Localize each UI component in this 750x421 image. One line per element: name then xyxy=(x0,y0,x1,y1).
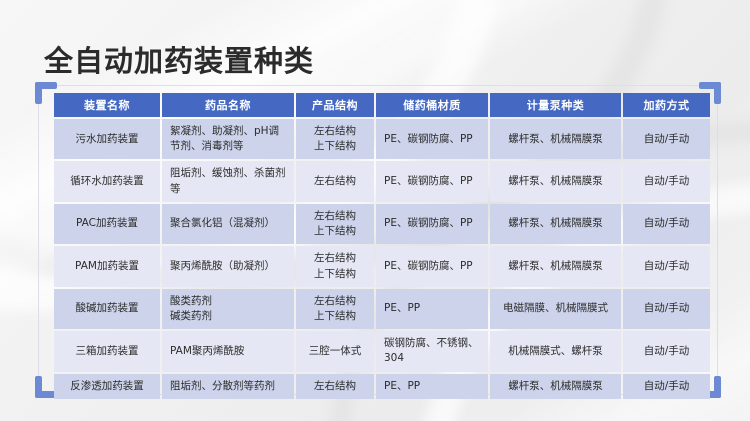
tank-material-cell: PE、碳钢防腐、PP xyxy=(376,119,488,159)
dosing-mode-cell: 自动/手动 xyxy=(623,161,710,201)
dosing-mode-cell: 自动/手动 xyxy=(623,374,710,399)
device-name-cell: PAC加药装置 xyxy=(54,204,160,244)
pump-type-cell: 螺杆泵、机械隔膜泵 xyxy=(490,246,621,286)
product-structure-cell: 左右结构上下结构 xyxy=(296,246,374,286)
table-row: 三箱加药装置PAM聚丙烯酰胺三腔一体式碳钢防腐、不锈钢、304机械隔膜式、螺杆泵… xyxy=(54,331,710,371)
tank-material-cell: 碳钢防腐、不锈钢、304 xyxy=(376,331,488,371)
column-header-product-structure: 产品结构 xyxy=(296,93,374,117)
tank-material-cell: PE、PP xyxy=(376,289,488,329)
chemical-name-cell: 酸类药剂碱类药剂 xyxy=(162,289,294,329)
chemical-name-cell: 阻垢剂、缓蚀剂、杀菌剂等 xyxy=(162,161,294,201)
page-title: 全自动加药装置种类 xyxy=(44,38,314,80)
device-name-cell: PAM加药装置 xyxy=(54,246,160,286)
column-header-tank-material: 储药桶材质 xyxy=(376,93,488,117)
device-name-cell: 酸碱加药装置 xyxy=(54,289,160,329)
tank-material-cell: PE、碳钢防腐、PP xyxy=(376,161,488,201)
chemical-name-cell: PAM聚丙烯酰胺 xyxy=(162,331,294,371)
product-structure-cell: 左右结构 xyxy=(296,161,374,201)
product-structure-cell: 三腔一体式 xyxy=(296,331,374,371)
pump-type-cell: 螺杆泵、机械隔膜泵 xyxy=(490,161,621,201)
table-row: 反渗透加药装置阻垢剂、分散剂等药剂左右结构PE、PP螺杆泵、机械隔膜泵自动/手动 xyxy=(54,374,710,399)
product-structure-cell: 左右结构 xyxy=(296,374,374,399)
product-structure-cell: 左右结构上下结构 xyxy=(296,204,374,244)
chemical-name-cell: 絮凝剂、助凝剂、pH调节剂、消毒剂等 xyxy=(162,119,294,159)
table-row: 污水加药装置絮凝剂、助凝剂、pH调节剂、消毒剂等左右结构上下结构PE、碳钢防腐、… xyxy=(54,119,710,159)
table-row: PAM加药装置聚丙烯酰胺（助凝剂）左右结构上下结构PE、碳钢防腐、PP螺杆泵、机… xyxy=(54,246,710,286)
table-row: 酸碱加药装置酸类药剂碱类药剂左右结构上下结构PE、PP电磁隔膜、机械隔膜式自动/… xyxy=(54,289,710,329)
product-structure-cell: 左右结构上下结构 xyxy=(296,119,374,159)
device-name-cell: 三箱加药装置 xyxy=(54,331,160,371)
dosing-mode-cell: 自动/手动 xyxy=(623,119,710,159)
table-header-row: 装置名称 药品名称 产品结构 储药桶材质 计量泵种类 加药方式 xyxy=(54,93,710,117)
device-types-table: 装置名称 药品名称 产品结构 储药桶材质 计量泵种类 加药方式 污水加药装置絮凝… xyxy=(52,91,712,401)
dosing-mode-cell: 自动/手动 xyxy=(623,331,710,371)
pump-type-cell: 螺杆泵、机械隔膜泵 xyxy=(490,374,621,399)
dosing-mode-cell: 自动/手动 xyxy=(623,204,710,244)
tank-material-cell: PE、碳钢防腐、PP xyxy=(376,204,488,244)
pump-type-cell: 螺杆泵、机械隔膜泵 xyxy=(490,204,621,244)
chemical-name-cell: 聚合氯化铝（混凝剂） xyxy=(162,204,294,244)
tank-material-cell: PE、碳钢防腐、PP xyxy=(376,246,488,286)
column-header-dosing-mode: 加药方式 xyxy=(623,93,710,117)
column-header-device-name: 装置名称 xyxy=(54,93,160,117)
table-row: PAC加药装置聚合氯化铝（混凝剂）左右结构上下结构PE、碳钢防腐、PP螺杆泵、机… xyxy=(54,204,710,244)
pump-type-cell: 电磁隔膜、机械隔膜式 xyxy=(490,289,621,329)
chemical-name-cell: 聚丙烯酰胺（助凝剂） xyxy=(162,246,294,286)
device-name-cell: 反渗透加药装置 xyxy=(54,374,160,399)
dosing-mode-cell: 自动/手动 xyxy=(623,246,710,286)
column-header-chemical-name: 药品名称 xyxy=(162,93,294,117)
tank-material-cell: PE、PP xyxy=(376,374,488,399)
dosing-mode-cell: 自动/手动 xyxy=(623,289,710,329)
chemical-name-cell: 阻垢剂、分散剂等药剂 xyxy=(162,374,294,399)
column-header-pump-type: 计量泵种类 xyxy=(490,93,621,117)
device-name-cell: 循环水加药装置 xyxy=(54,161,160,201)
device-name-cell: 污水加药装置 xyxy=(54,119,160,159)
pump-type-cell: 机械隔膜式、螺杆泵 xyxy=(490,331,621,371)
product-structure-cell: 左右结构上下结构 xyxy=(296,289,374,329)
pump-type-cell: 螺杆泵、机械隔膜泵 xyxy=(490,119,621,159)
device-types-table-wrapper: 装置名称 药品名称 产品结构 储药桶材质 计量泵种类 加药方式 污水加药装置絮凝… xyxy=(52,91,704,401)
table-row: 循环水加药装置阻垢剂、缓蚀剂、杀菌剂等左右结构PE、碳钢防腐、PP螺杆泵、机械隔… xyxy=(54,161,710,201)
